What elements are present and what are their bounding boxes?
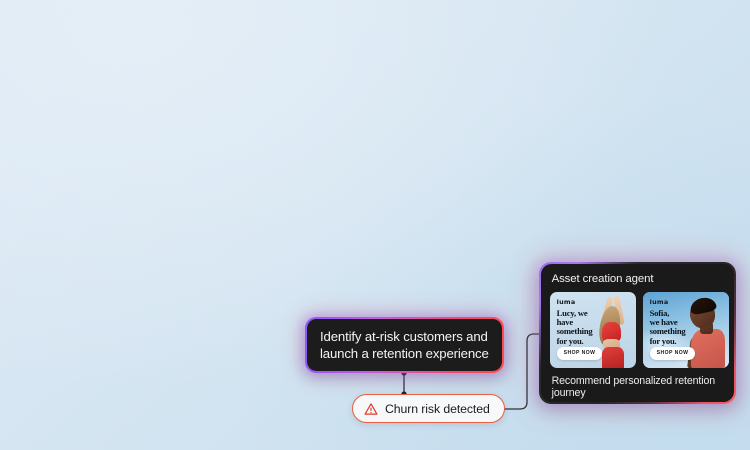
ad-copy-block: luma Lucy, we have something for you. [557,298,598,347]
model-leggings-shape [602,347,624,368]
prompt-text: Identify at-risk customers and launch a … [320,328,489,363]
agent-panel-caption: Recommend personalized retention journey [552,375,726,399]
ad-creative-card[interactable]: luma Sofia, we have something for you. S… [643,292,729,368]
agent-panel-title: Asset creation agent [552,273,726,285]
prompt-card[interactable]: Identify at-risk customers and launch a … [305,317,504,373]
churn-risk-badge[interactable]: Churn risk detected [352,394,505,423]
asset-creation-agent-panel[interactable]: Asset creation agent luma Lucy, we have … [539,262,736,404]
ad-creative-list: luma Lucy, we have something for you. SH… [550,292,726,368]
ad-creative-card[interactable]: luma Lucy, we have something for you. SH… [550,292,636,368]
agent-panel-body: Asset creation agent luma Lucy, we have … [541,264,735,403]
canvas: Identify at-risk customers and launch a … [0,0,750,450]
brand-logo-luma: luma [557,298,598,306]
shop-now-button[interactable]: SHOP NOW [557,347,603,359]
churn-risk-label: Churn risk detected [385,402,490,416]
shop-now-button[interactable]: SHOP NOW [650,347,696,359]
brand-logo-luma: luma [650,298,691,306]
ad-copy-block: luma Sofia, we have something for you. [650,298,691,347]
warning-triangle-icon [364,402,378,416]
model-top-shape [691,329,725,368]
ad-headline: Lucy, we have something for you. [557,309,598,347]
prompt-card-body: Identify at-risk customers and launch a … [307,319,502,371]
ad-headline: Sofia, we have something for you. [650,309,691,347]
